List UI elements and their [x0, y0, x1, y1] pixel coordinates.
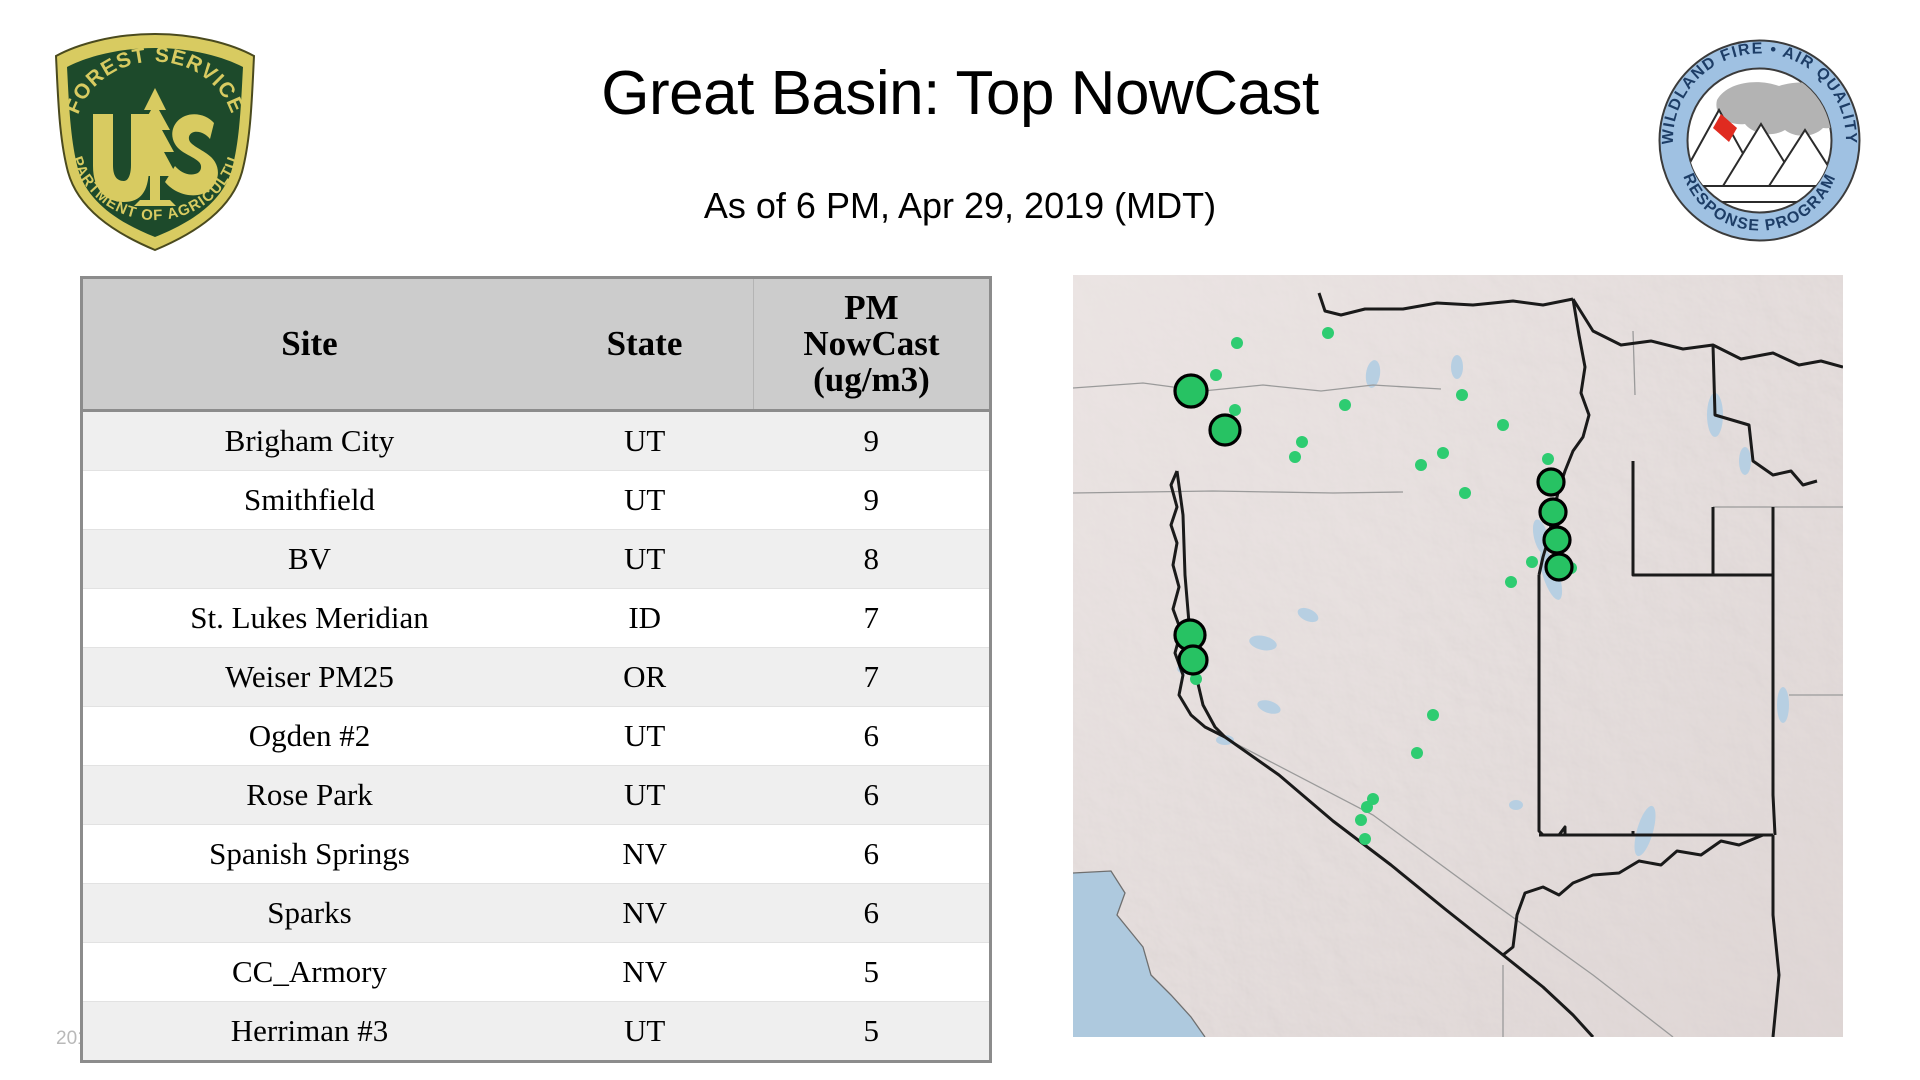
table-body: Brigham CityUT9SmithfieldUT9BVUT8St. Luk…: [83, 411, 989, 1061]
page-subtitle: As of 6 PM, Apr 29, 2019 (MDT): [300, 185, 1620, 227]
cell-state: UT: [536, 411, 753, 471]
monitor-marker-small[interactable]: [1231, 337, 1243, 349]
cell-pm-nowcast: 5: [753, 943, 989, 1002]
table-row[interactable]: Spanish SpringsNV6: [83, 825, 989, 884]
monitor-marker-small[interactable]: [1229, 404, 1241, 416]
cell-site: BV: [83, 530, 536, 589]
cell-state: NV: [536, 943, 753, 1002]
column-header-pm-nowcast[interactable]: PM NowCast (ug/m3): [753, 279, 989, 411]
monitor-marker-small[interactable]: [1415, 459, 1427, 471]
cell-state: OR: [536, 648, 753, 707]
monitor-marker-small[interactable]: [1289, 451, 1301, 463]
monitor-marker-large[interactable]: [1540, 499, 1566, 525]
great-basin-map[interactable]: [1073, 275, 1843, 1037]
cell-site: Ogden #2: [83, 707, 536, 766]
cell-pm-nowcast: 6: [753, 766, 989, 825]
cell-site: Weiser PM25: [83, 648, 536, 707]
cell-pm-nowcast: 7: [753, 648, 989, 707]
monitor-marker-large[interactable]: [1538, 469, 1564, 495]
cell-pm-nowcast: 5: [753, 1002, 989, 1061]
cell-pm-nowcast: 6: [753, 825, 989, 884]
column-header-state[interactable]: State: [536, 279, 753, 411]
table-row[interactable]: CC_ArmoryNV5: [83, 943, 989, 1002]
monitor-marker-small[interactable]: [1505, 576, 1517, 588]
table-row[interactable]: Weiser PM25OR7: [83, 648, 989, 707]
monitor-marker-large[interactable]: [1179, 646, 1207, 674]
table-header-row: Site State PM NowCast (ug/m3): [83, 279, 989, 411]
table-row[interactable]: Herriman #3UT5: [83, 1002, 989, 1061]
table-header: Site State PM NowCast (ug/m3): [83, 279, 989, 411]
monitor-marker-small[interactable]: [1459, 487, 1471, 499]
table-row[interactable]: SmithfieldUT9: [83, 471, 989, 530]
monitor-marker-small[interactable]: [1367, 793, 1379, 805]
cell-pm-nowcast: 8: [753, 530, 989, 589]
pm-header-line-2: NowCast: [803, 324, 939, 363]
monitor-marker-small[interactable]: [1322, 327, 1334, 339]
monitor-marker-small[interactable]: [1339, 399, 1351, 411]
monitor-marker-small[interactable]: [1411, 747, 1423, 759]
monitor-marker-small[interactable]: [1210, 369, 1222, 381]
nowcast-table: Site State PM NowCast (ug/m3) Brigham Ci…: [83, 279, 989, 1060]
cell-state: UT: [536, 530, 753, 589]
cell-pm-nowcast: 9: [753, 411, 989, 471]
table-row[interactable]: BVUT8: [83, 530, 989, 589]
monitor-marker-small[interactable]: [1497, 419, 1509, 431]
table-row[interactable]: Brigham CityUT9: [83, 411, 989, 471]
monitor-marker-large[interactable]: [1544, 527, 1570, 553]
pm-header-line-3: (ug/m3): [813, 360, 930, 399]
wfaqrp-logo: WILDLAND FIRE • AIR QUALITY RESPONSE PRO…: [1657, 38, 1862, 243]
monitor-marker-small[interactable]: [1427, 709, 1439, 721]
table-row[interactable]: St. Lukes MeridianID7: [83, 589, 989, 648]
cell-site: Sparks: [83, 884, 536, 943]
nowcast-table-container: Site State PM NowCast (ug/m3) Brigham Ci…: [80, 276, 992, 1063]
cell-state: UT: [536, 707, 753, 766]
monitor-marker-large[interactable]: [1546, 554, 1572, 580]
cell-site: Herriman #3: [83, 1002, 536, 1061]
cell-pm-nowcast: 7: [753, 589, 989, 648]
cell-site: St. Lukes Meridian: [83, 589, 536, 648]
cell-state: NV: [536, 825, 753, 884]
table-row[interactable]: Ogden #2UT6: [83, 707, 989, 766]
pm-header-line-1: PM: [844, 288, 898, 327]
monitor-marker-small[interactable]: [1437, 447, 1449, 459]
monitor-marker-small[interactable]: [1526, 556, 1538, 568]
table-row[interactable]: SparksNV6: [83, 884, 989, 943]
cell-site: Rose Park: [83, 766, 536, 825]
cell-state: UT: [536, 1002, 753, 1061]
cell-site: Spanish Springs: [83, 825, 536, 884]
cell-state: NV: [536, 884, 753, 943]
column-header-site[interactable]: Site: [83, 279, 536, 411]
monitor-marker-large[interactable]: [1175, 375, 1207, 407]
cell-site: Brigham City: [83, 411, 536, 471]
cell-state: UT: [536, 766, 753, 825]
cell-pm-nowcast: 9: [753, 471, 989, 530]
monitor-marker-small[interactable]: [1296, 436, 1308, 448]
cell-pm-nowcast: 6: [753, 884, 989, 943]
cell-site: Smithfield: [83, 471, 536, 530]
monitor-marker-large[interactable]: [1210, 415, 1240, 445]
table-row[interactable]: Rose ParkUT6: [83, 766, 989, 825]
cell-pm-nowcast: 6: [753, 707, 989, 766]
cell-site: CC_Armory: [83, 943, 536, 1002]
monitor-marker-small[interactable]: [1359, 833, 1371, 845]
page-title: Great Basin: Top NowCast: [300, 58, 1620, 129]
monitor-marker-small[interactable]: [1542, 453, 1554, 465]
monitor-marker-small[interactable]: [1456, 389, 1468, 401]
cell-state: UT: [536, 471, 753, 530]
usfs-logo: FOREST SERVICE DEPARTMENT OF AGRICULTURE: [46, 26, 264, 258]
cell-state: ID: [536, 589, 753, 648]
monitor-marker-small[interactable]: [1355, 814, 1367, 826]
